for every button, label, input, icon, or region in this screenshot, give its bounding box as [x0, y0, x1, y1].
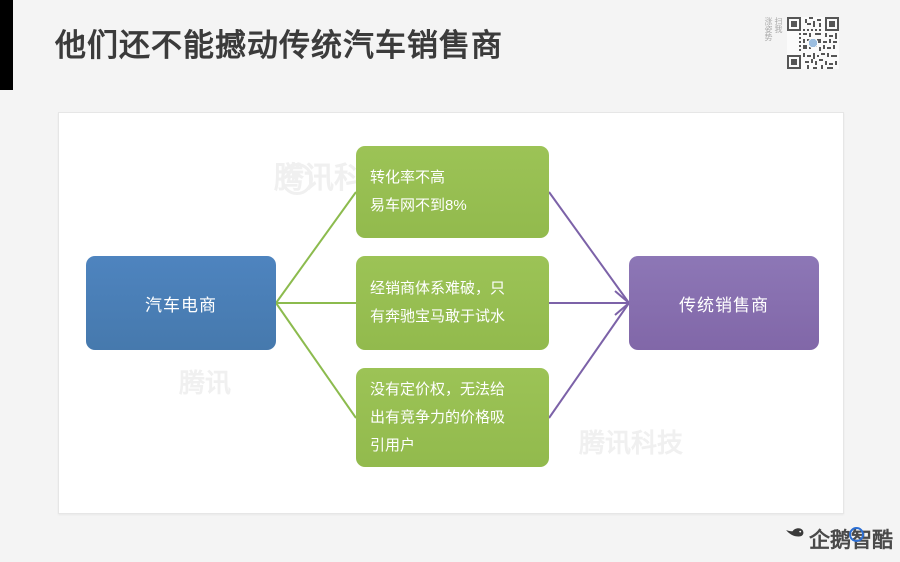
- diagram-card: 腾讯科技 腾讯科技 腾讯 汽车电商: [58, 112, 844, 514]
- node-reason-3[interactable]: 没有定价权，无法给 出有竞争力的价格吸 引用户: [356, 368, 549, 467]
- node-reason-3-text: 没有定价权，无法给 出有竞争力的价格吸 引用户: [370, 376, 535, 460]
- node-reason-1-line-2: 易车网不到8%: [370, 197, 467, 214]
- brand-logo: 企鹅智酷: [785, 524, 893, 554]
- node-source-label: 汽车电商: [86, 291, 276, 316]
- node-reason-1[interactable]: 转化率不高 易车网不到8%: [356, 146, 549, 238]
- connector-left-1: [276, 192, 356, 303]
- watermark-text-b: 腾讯科技: [579, 423, 683, 460]
- qr-block: 扫我 涨姿势: [763, 16, 853, 70]
- accent-bar: [0, 0, 13, 90]
- node-target-label: 传统销售商: [629, 291, 819, 316]
- penguin-icon: [785, 526, 807, 552]
- node-reason-2[interactable]: 经销商体系难破，只 有奔驰宝马敢于试水: [356, 256, 549, 350]
- node-reason-3-line-2: 出有竞争力的价格吸: [370, 409, 505, 426]
- node-reason-1-line-1: 转化率不高: [370, 169, 445, 186]
- node-source[interactable]: 汽车电商: [86, 256, 276, 350]
- node-reason-3-line-3: 引用户: [370, 437, 415, 454]
- connector-right-3: [549, 303, 629, 418]
- watermark-text-c: 腾讯: [179, 363, 231, 400]
- play-watermark-icon: [281, 163, 313, 195]
- qr-caption-line1: 扫我: [774, 17, 783, 69]
- brand-name: 企鹅智酷: [809, 524, 893, 554]
- brand-dot-icon: [849, 527, 864, 542]
- page-title: 他们还不能撼动传统汽车销售商: [55, 24, 503, 68]
- qr-code-icon: [787, 17, 839, 69]
- slide-canvas: 他们还不能撼动传统汽车销售商 扫我 涨姿势: [0, 0, 900, 562]
- node-reason-2-text: 经销商体系难破，只 有奔驰宝马敢于试水: [370, 275, 535, 331]
- node-reason-1-text: 转化率不高 易车网不到8%: [370, 164, 535, 220]
- connector-right-1: [549, 192, 629, 303]
- arrowhead-icon: [615, 291, 629, 315]
- node-reason-2-line-2: 有奔驰宝马敢于试水: [370, 308, 505, 325]
- node-target[interactable]: 传统销售商: [629, 256, 819, 350]
- connector-left-3: [276, 303, 356, 418]
- node-reason-3-line-1: 没有定价权，无法给: [370, 381, 505, 398]
- qr-caption-line2: 涨姿势: [764, 17, 773, 69]
- node-reason-2-line-1: 经销商体系难破，只: [370, 280, 505, 297]
- qr-caption: 扫我 涨姿势: [763, 17, 783, 69]
